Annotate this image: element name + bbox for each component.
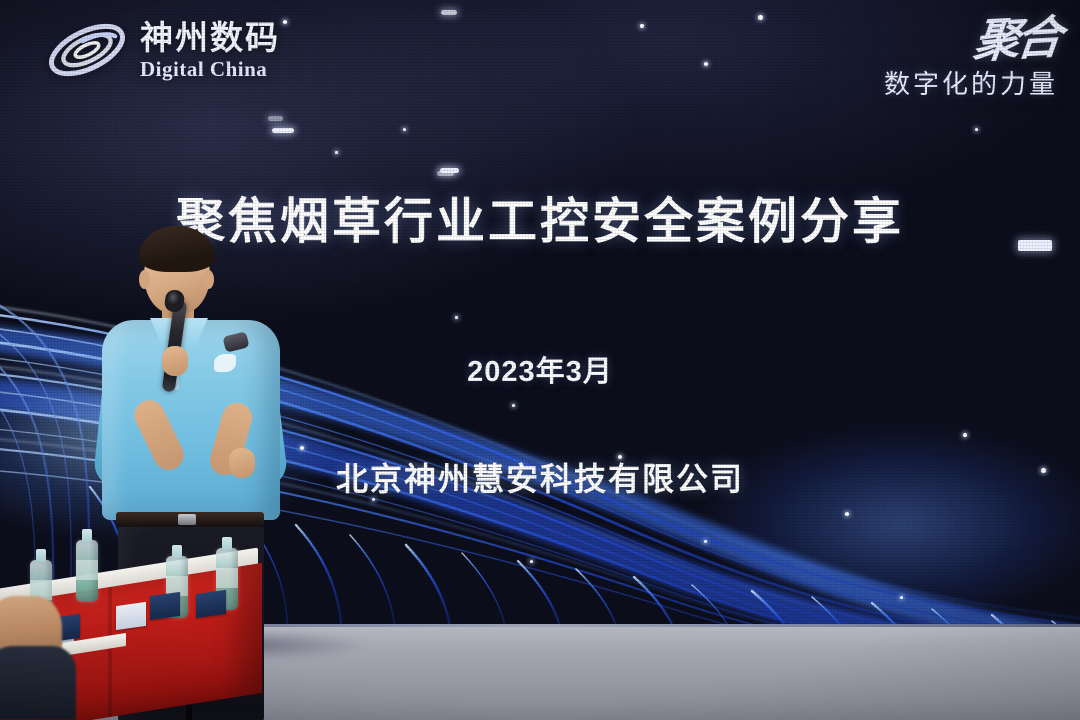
presenter-ear-left bbox=[139, 270, 150, 289]
water-bottle bbox=[76, 540, 98, 602]
screen-edge-marker bbox=[1018, 240, 1052, 251]
name-card bbox=[116, 602, 146, 630]
digital-china-swirl-icon bbox=[44, 18, 130, 82]
presenter-right-hand bbox=[229, 448, 255, 478]
brand-name-cn: 神州数码 bbox=[140, 21, 280, 54]
digital-china-logo: 神州数码 Digital China bbox=[44, 18, 280, 82]
presenter-shirt-logo bbox=[214, 354, 236, 372]
presenter-hair bbox=[139, 226, 215, 272]
presenter-ear-right bbox=[203, 270, 214, 289]
screen-glow-right bbox=[640, 420, 1080, 627]
name-card bbox=[196, 590, 226, 618]
seated-attendee-body bbox=[0, 646, 76, 720]
presenter-belt-buckle bbox=[178, 514, 196, 525]
slogan-sub-text: 数字化的力量 bbox=[884, 64, 1058, 101]
brand-name-en: Digital China bbox=[140, 59, 280, 80]
event-slogan: 聚合 数字化的力量 bbox=[884, 18, 1058, 101]
stage-photo: 神州数码 Digital China 聚合 数字化的力量 聚焦烟草行业工控安全案… bbox=[0, 0, 1080, 720]
slogan-brush-text: 聚合 bbox=[971, 16, 1060, 64]
name-card bbox=[150, 592, 180, 620]
presenter-left-hand bbox=[162, 346, 188, 376]
